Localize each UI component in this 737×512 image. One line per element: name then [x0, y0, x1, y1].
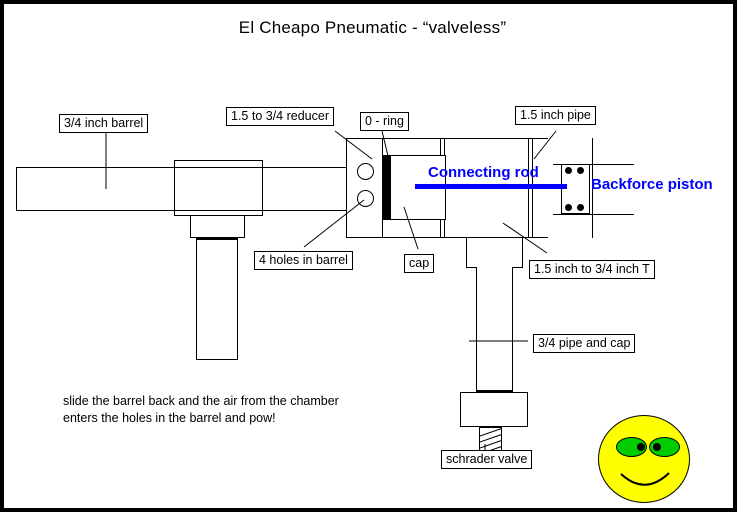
collar-stub-left	[190, 215, 191, 237]
piston-dot-top-right	[577, 167, 584, 174]
collar-stub-right	[244, 215, 245, 237]
label-cap: cap	[404, 254, 434, 273]
piston-dot-bottom-left	[565, 204, 572, 211]
tee-neck-bottom-left	[466, 267, 476, 268]
tee-downpipe-right	[512, 267, 513, 392]
lower-pipe-left-edge	[196, 237, 197, 359]
connecting-rod-line	[415, 184, 567, 189]
piston-guide-line-top	[553, 164, 634, 165]
page-title: El Cheapo Pneumatic - “valveless”	[4, 18, 737, 38]
collar-top-edge	[174, 160, 263, 161]
lower-pipe-top-cap	[196, 237, 237, 240]
label-oring: 0 - ring	[360, 112, 409, 131]
chamber-bottom-edge	[346, 237, 548, 238]
end-cap-box	[460, 392, 528, 427]
chamber-top-edge	[346, 138, 548, 139]
piston-guide-line-bottom	[553, 214, 634, 215]
label-pipe: 1.5 inch pipe	[515, 106, 596, 125]
collar-right-edge	[262, 160, 263, 216]
label-tee: 1.5 inch to 3/4 inch T	[529, 260, 655, 279]
barrel-top-edge	[16, 167, 346, 168]
annotation-backforce-piston: Backforce piston	[591, 176, 713, 193]
o-ring-seal-icon	[382, 155, 390, 220]
label-schrader-valve: schrader valve	[441, 450, 532, 469]
tee-neck-right	[522, 237, 523, 267]
lower-pipe-right-edge	[237, 237, 238, 359]
label-pipe-and-cap: 3/4 pipe and cap	[533, 334, 635, 353]
tee-downpipe-left	[476, 267, 477, 392]
annotation-connecting-rod: Connecting rod	[428, 164, 539, 181]
piston-dot-bottom-right	[577, 204, 584, 211]
note-line-1: slide the barrel back and the air from t…	[63, 393, 339, 410]
label-holes: 4 holes in barrel	[254, 251, 353, 270]
label-reducer: 1.5 to 3/4 reducer	[226, 107, 334, 126]
tee-neck-left	[466, 237, 467, 267]
barrel-left-end	[16, 167, 17, 211]
collar-bottom-edge	[174, 215, 263, 216]
piston-dot-top-left	[565, 167, 572, 174]
lower-pipe-bottom-edge	[196, 359, 238, 360]
barrel-hole-icon-bottom	[357, 190, 374, 207]
collar-left-edge	[174, 160, 175, 216]
barrel-bottom-edge	[16, 210, 346, 211]
barrel-hole-icon-top	[357, 163, 374, 180]
label-barrel: 3/4 inch barrel	[59, 114, 148, 133]
diagram-canvas: El Cheapo Pneumatic - “valveless”	[0, 0, 737, 512]
smiley-face-icon	[598, 415, 690, 503]
note-line-2: enters the holes in the barrel and pow!	[63, 410, 276, 427]
tee-neck-bottom-right	[512, 267, 523, 268]
smiley-mouth	[599, 416, 691, 504]
chamber-left-edge	[346, 138, 347, 238]
